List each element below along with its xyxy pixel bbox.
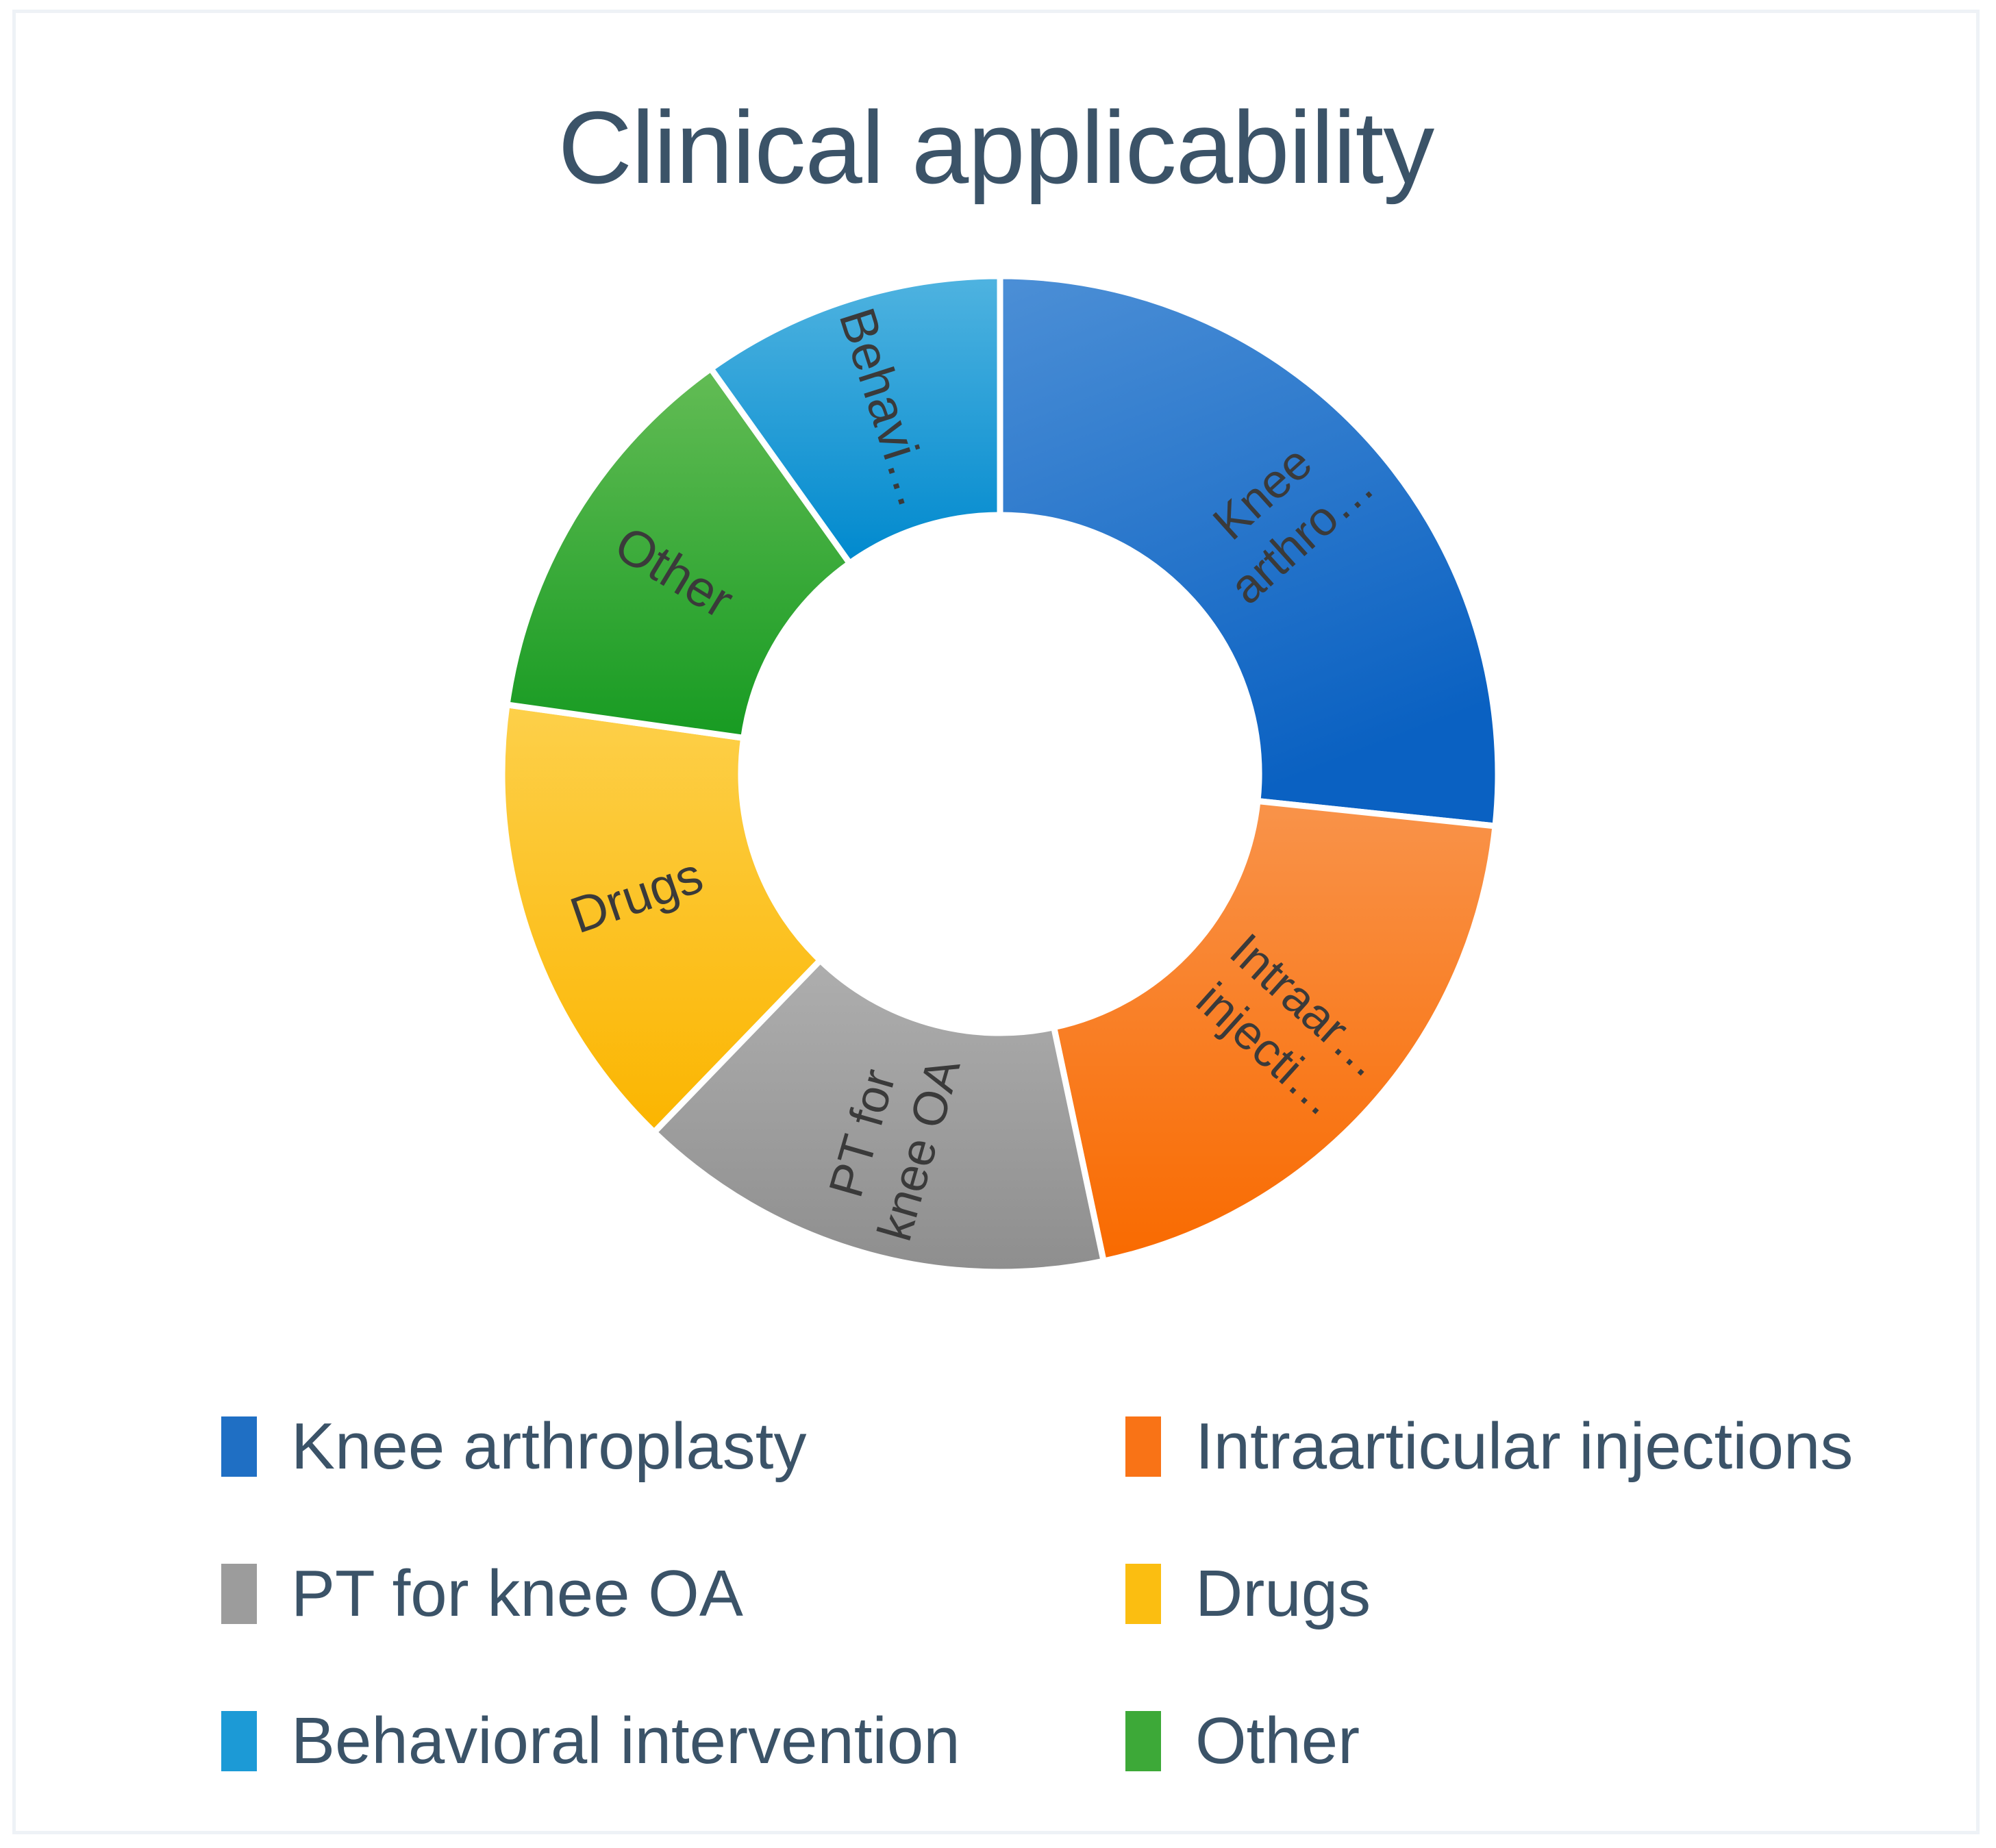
legend-row: Knee arthroplasty Intraarticular injecti…: [221, 1373, 1879, 1520]
legend-swatch-icon: [1125, 1416, 1161, 1477]
legend-item-label: Other: [1195, 1708, 1360, 1774]
chart-card: Clinical applicability: [12, 10, 1980, 1834]
legend-item-label: PT for knee OA: [291, 1561, 743, 1627]
legend-item-intraarticular-injections[interactable]: Intraarticular injections: [1050, 1414, 1879, 1479]
legend-item-label: Behavioral intervention: [291, 1708, 960, 1774]
donut-chart-svg: Kneearthro…Intraar…injecti…PT forknee OA…: [16, 13, 1983, 1445]
legend-item-behavioral-intervention[interactable]: Behavioral intervention: [221, 1708, 1050, 1774]
legend-item-label: Drugs: [1195, 1561, 1371, 1627]
chart-legend: Knee arthroplasty Intraarticular injecti…: [221, 1373, 1879, 1814]
legend-swatch-icon: [221, 1711, 257, 1771]
legend-item-label: Intraarticular injections: [1195, 1414, 1853, 1479]
legend-item-knee-arthroplasty[interactable]: Knee arthroplasty: [221, 1414, 1050, 1479]
legend-item-other[interactable]: Other: [1050, 1708, 1879, 1774]
legend-item-label: Knee arthroplasty: [291, 1414, 806, 1479]
legend-swatch-icon: [1125, 1564, 1161, 1624]
legend-row: PT for knee OA Drugs: [221, 1520, 1879, 1667]
legend-item-pt-for-knee-oa[interactable]: PT for knee OA: [221, 1561, 1050, 1627]
donut-chart: Kneearthro…Intraar…injecti…PT forknee OA…: [16, 13, 1983, 1445]
legend-item-drugs[interactable]: Drugs: [1050, 1561, 1879, 1627]
legend-swatch-icon: [221, 1564, 257, 1624]
donut-slices: [502, 276, 1498, 1272]
legend-row: Behavioral intervention Other: [221, 1667, 1879, 1814]
legend-swatch-icon: [221, 1416, 257, 1477]
legend-swatch-icon: [1125, 1711, 1161, 1771]
